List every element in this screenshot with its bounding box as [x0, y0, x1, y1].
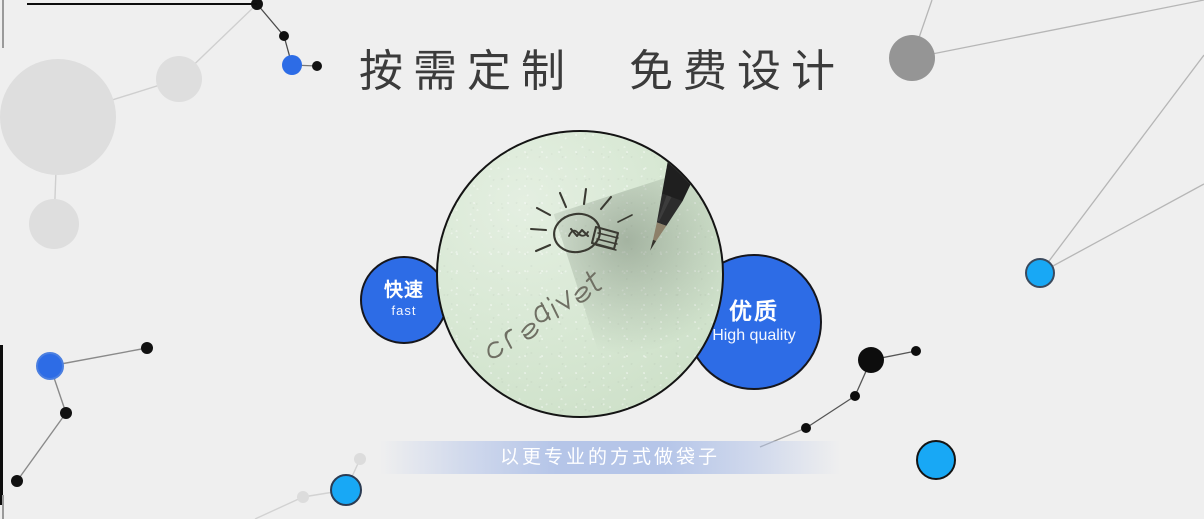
node-right-black-a: [911, 346, 921, 356]
tagline-text: 以更专业的方式做袋子: [500, 441, 720, 474]
node-right-black-b: [850, 391, 860, 401]
edge-left-top-rule: [2, 0, 4, 48]
edge-bottom-b: [346, 459, 360, 490]
edge-bottom-a: [303, 490, 346, 497]
node-left-black-a: [141, 342, 153, 354]
edge-left-b: [50, 366, 66, 413]
tagline-band: 以更专业的方式做袋子: [380, 441, 840, 474]
creative-photo: [436, 130, 724, 418]
node-right-cyan-big: [917, 441, 955, 479]
photo-paper: [438, 132, 722, 416]
node-gray-small: [29, 199, 79, 249]
node-top-black-b: [279, 31, 289, 41]
edge-right-e: [871, 351, 916, 360]
edge-left-bottom-rule: [2, 495, 4, 519]
edge-left-c: [17, 413, 66, 481]
promo-banner: 按需定制 免费设计 快速 fast 优质 High quality: [0, 0, 1204, 519]
edge-right-f: [855, 360, 871, 396]
node-left-blue: [37, 353, 63, 379]
node-bottom-gray-b: [354, 453, 366, 465]
edge-right-d: [1040, 184, 1204, 273]
node-top-black-a: [251, 0, 263, 10]
pen-icon: [608, 149, 710, 268]
frame-left-rule: [0, 345, 3, 505]
node-left-black-c: [11, 475, 23, 487]
frame-top-rule: [27, 3, 257, 5]
node-right-black-c: [801, 423, 811, 433]
headline: 按需定制 免费设计: [0, 46, 1204, 98]
badge-fast-label-cn: 快速: [384, 280, 424, 302]
edge-top-f: [54, 117, 58, 224]
badge-fast[interactable]: 快速 fast: [360, 256, 448, 344]
badge-quality-label-cn: 优质: [729, 297, 779, 325]
edge-top-a: [257, 4, 284, 36]
edge-left-a: [50, 348, 147, 366]
node-right-black-big: [858, 347, 884, 373]
node-right-cyan: [1026, 259, 1054, 287]
node-bottom-cyan: [331, 475, 361, 505]
node-left-black-b: [60, 407, 72, 419]
badge-quality-label-en: High quality: [712, 325, 796, 347]
badge-fast-label-en: fast: [392, 302, 417, 320]
hero-composition: 快速 fast 优质 High quality: [352, 130, 828, 422]
edge-bottom-c: [255, 497, 303, 519]
node-bottom-gray-a: [297, 491, 309, 503]
